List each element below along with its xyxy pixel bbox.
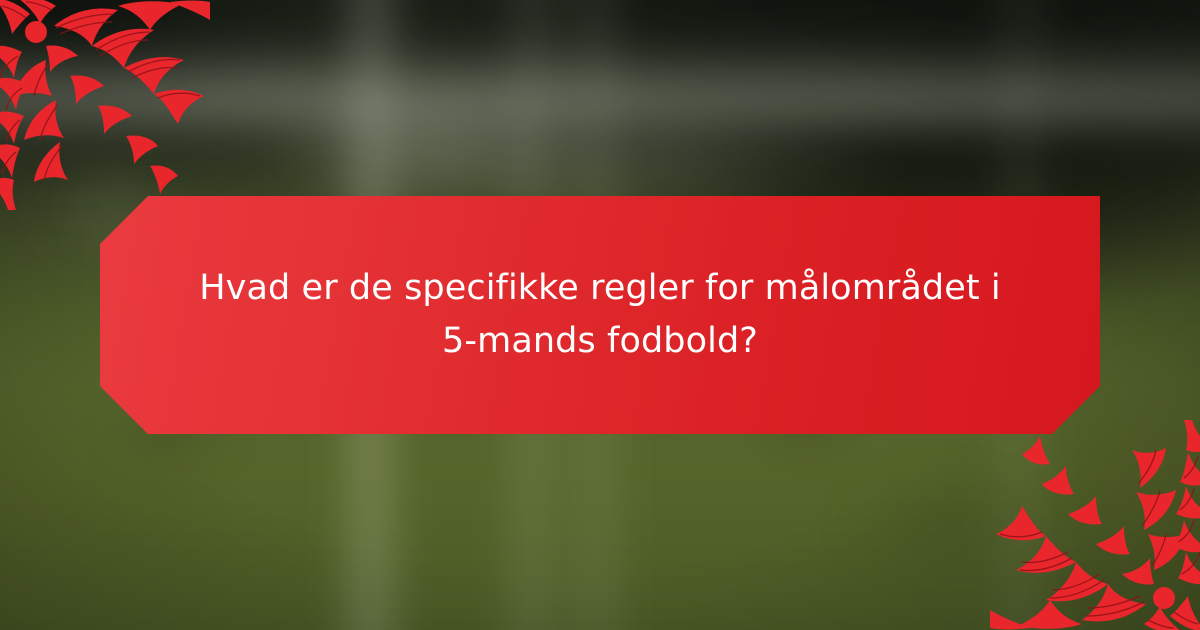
headline-banner: Hvad er de specifikke regler for målområ… <box>100 196 1100 434</box>
share-card: Hvad er de specifikke regler for målområ… <box>0 0 1200 630</box>
headline-text: Hvad er de specifikke regler for målområ… <box>190 262 1010 368</box>
